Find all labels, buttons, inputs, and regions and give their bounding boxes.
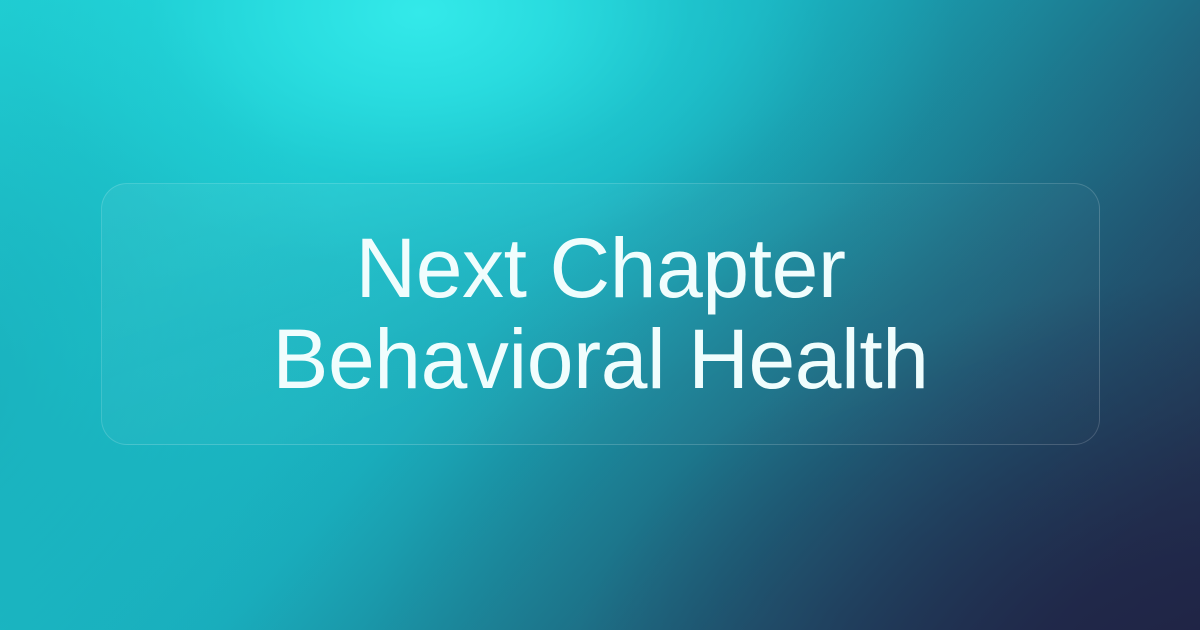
share-card-canvas: Next Chapter Behavioral Health [0, 0, 1200, 630]
title-card: Next Chapter Behavioral Health [101, 183, 1100, 445]
page-title: Next Chapter Behavioral Health [246, 223, 954, 405]
